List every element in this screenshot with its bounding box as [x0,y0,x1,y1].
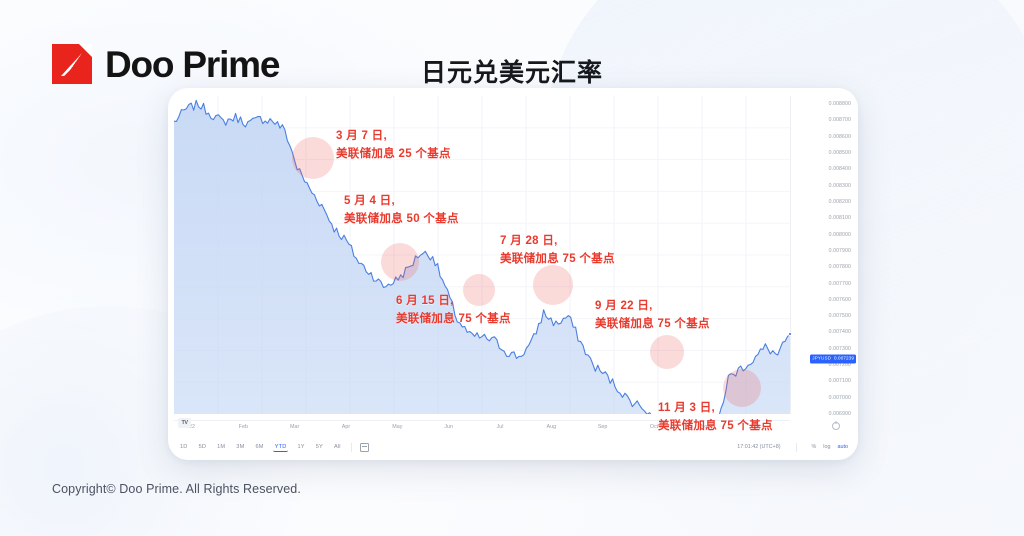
percent-toggle[interactable]: % [812,444,817,450]
range-button-6m[interactable]: 6M [253,443,265,451]
price-axis-tick: 0.007800 [829,264,851,270]
time-axis-tick: Apr [342,424,350,430]
range-button-ytd[interactable]: YTD [273,443,289,452]
range-button-1y[interactable]: 1Y [295,443,306,451]
annotation-detail: 美联储加息 75 个基点 [500,251,615,269]
price-axis-tick: 0.008200 [829,199,851,205]
annotation-mar-7: 3 月 7 日,美联储加息 25 个基点 [336,128,451,164]
price-axis-tick: 0.008700 [829,117,851,123]
gear-icon[interactable] [832,422,840,430]
annotation-detail: 美联储加息 75 个基点 [658,418,773,436]
annotation-date: 3 月 7 日, [336,128,451,146]
price-axis-tick: 0.007900 [829,248,851,254]
price-axis-tick: 0.008500 [829,150,851,156]
price-axis-tick: 0.007100 [829,378,851,384]
time-axis-tick: Jun [444,424,453,430]
price-axis[interactable]: 0.0088000.0087000.0086000.0085000.008400… [790,96,858,414]
page-title: 日元兑美元汇率 [0,53,1024,89]
annotation-sep-22: 9 月 22 日,美联储加息 75 个基点 [595,298,710,334]
price-area-chart [174,96,790,414]
price-axis-tick: 0.008800 [829,101,851,107]
toolbar-right-group[interactable]: 17:01:42 (UTC+8) % log auto [737,443,848,452]
auto-scale-toggle[interactable]: auto [838,444,849,450]
annotation-date: 11 月 3 日, [658,400,773,418]
clock-label: 17:01:42 (UTC+8) [737,444,780,450]
annotation-jul-28: 7 月 28 日,美联储加息 75 个基点 [500,233,615,269]
range-button-3m[interactable]: 3M [234,443,246,451]
time-axis-tick: Jul [497,424,504,430]
price-axis-tick: 0.008600 [829,134,851,140]
price-axis-tick: 0.007700 [829,281,851,287]
range-button-5y[interactable]: 5Y [314,443,325,451]
time-axis-tick: Sep [598,424,608,430]
annotation-detail: 美联储加息 75 个基点 [396,311,511,329]
calendar-icon[interactable] [360,443,369,452]
tradingview-logo-icon[interactable]: TV [178,418,191,428]
price-axis-tick: 0.008100 [829,215,851,221]
price-axis-tick: 0.006900 [829,411,851,417]
time-axis-tick: Oct [650,424,658,430]
price-axis-tick: 0.007500 [829,313,851,319]
toolbar-divider [351,443,352,452]
time-range-selector[interactable]: 1D5D1M3M6MYTD1Y5YAll [178,443,343,452]
price-axis-tick: 0.008300 [829,183,851,189]
annotation-detail: 美联储加息 75 个基点 [595,316,710,334]
time-axis-tick: Mar [290,424,299,430]
annotation-detail: 美联储加息 50 个基点 [344,211,459,229]
time-axis-tick: May [392,424,402,430]
symbol-label: JPYUSD [812,356,831,361]
price-axis-tick: 0.008400 [829,166,851,172]
annotation-jun-15: 6 月 15 日,美联储加息 75 个基点 [396,293,511,329]
range-button-1m[interactable]: 1M [215,443,227,451]
time-axis-tick: Feb [239,424,248,430]
last-price-value: 0.007239 [834,356,854,361]
annotation-may-4: 5 月 4 日,美联储加息 50 个基点 [344,193,459,229]
range-button-all[interactable]: All [332,443,343,451]
annotation-date: 7 月 28 日, [500,233,615,251]
price-axis-tick: 0.007400 [829,329,851,335]
price-axis-tick: 0.008000 [829,232,851,238]
annotation-nov-3: 11 月 3 日,美联储加息 75 个基点 [658,400,773,436]
time-axis-tick: Aug [547,424,557,430]
footer-copyright: Copyright© Doo Prime. All Rights Reserve… [52,482,301,496]
annotation-date: 6 月 15 日, [396,293,511,311]
range-button-1d[interactable]: 1D [178,443,190,451]
chart-plot-area[interactable] [174,96,790,414]
range-button-5d[interactable]: 5D [197,443,209,451]
chart-toolbar[interactable]: 1D5D1M3M6MYTD1Y5YAll 17:01:42 (UTC+8) % … [168,434,858,460]
annotation-detail: 美联储加息 25 个基点 [336,146,451,164]
annotation-date: 5 月 4 日, [344,193,459,211]
price-axis-tick: 0.007000 [829,395,851,401]
price-axis-tick: 0.007600 [829,297,851,303]
annotation-date: 9 月 22 日, [595,298,710,316]
toolbar-divider-2 [796,443,797,452]
price-axis-tick: 0.007300 [829,346,851,352]
last-price-badge[interactable]: JPYUSD0.007239 [810,354,856,363]
log-scale-toggle[interactable]: log [823,444,830,450]
